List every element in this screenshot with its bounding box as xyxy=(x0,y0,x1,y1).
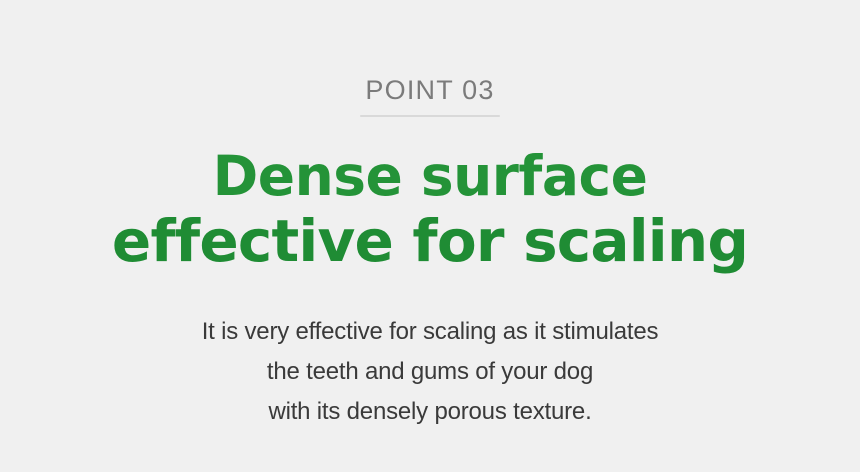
headline: Dense surface effective for scaling xyxy=(112,144,748,274)
promo-banner: POINT 03 Dense surface effective for sca… xyxy=(0,0,860,472)
body-line-3: with its densely porous texture. xyxy=(202,392,659,432)
headline-line-2: effective for scaling xyxy=(112,208,748,274)
body-line-2: the teeth and gums of your dog xyxy=(202,352,659,392)
eyebrow-divider xyxy=(360,115,500,117)
point-label: POINT 03 xyxy=(365,74,494,106)
body-line-1: It is very effective for scaling as it s… xyxy=(202,312,659,352)
body-copy: It is very effective for scaling as it s… xyxy=(202,312,659,432)
eyebrow-block: POINT 03 xyxy=(360,74,500,117)
headline-line-1: Dense surface xyxy=(112,144,748,208)
